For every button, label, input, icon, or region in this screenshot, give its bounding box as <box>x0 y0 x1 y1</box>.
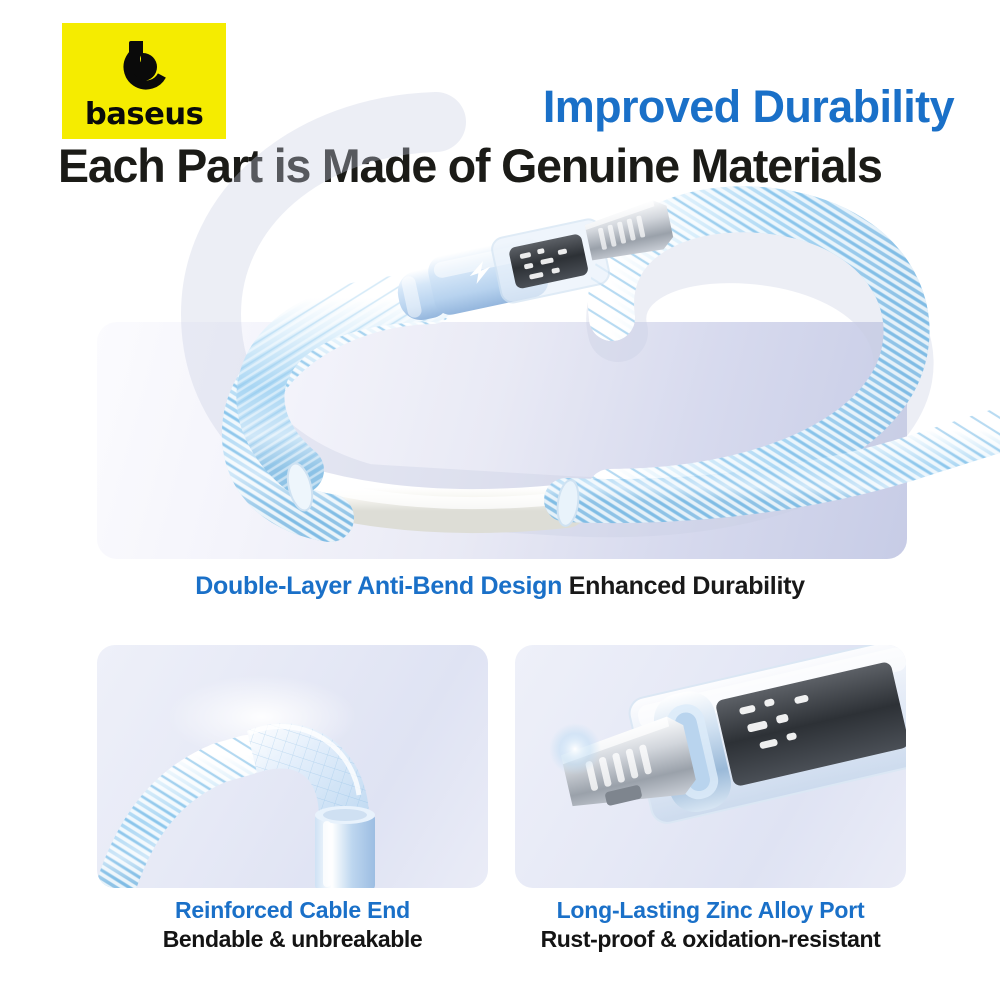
feature-panel-reinforced-cable-end <box>97 645 488 888</box>
zinc-alloy-port-illustration <box>515 645 906 888</box>
cable-braided-body <box>211 122 1000 527</box>
feature-title-left: Reinforced Cable End <box>97 896 488 925</box>
feature-subtitle-left: Bendable & unbreakable <box>97 925 488 955</box>
reinforced-cable-end-illustration <box>97 645 488 888</box>
hero-caption-plain: Enhanced Durability <box>569 572 805 600</box>
feature-caption-left: Reinforced Cable End Bendable & unbreaka… <box>97 896 488 955</box>
hero-cable-illustration <box>0 0 1000 640</box>
feature-panel-zinc-alloy-port <box>515 645 906 888</box>
hero-caption: Double-Layer Anti-Bend Design Enhanced D… <box>0 572 1000 601</box>
feature-title-right: Long-Lasting Zinc Alloy Port <box>515 896 906 925</box>
feature-caption-right: Long-Lasting Zinc Alloy Port Rust-proof … <box>515 896 906 955</box>
feature-subtitle-right: Rust-proof & oxidation-resistant <box>515 925 906 955</box>
hero-caption-accent: Double-Layer Anti-Bend Design <box>195 572 562 600</box>
product-feature-page: baseus Improved Durability Each Part is … <box>0 0 1000 1000</box>
